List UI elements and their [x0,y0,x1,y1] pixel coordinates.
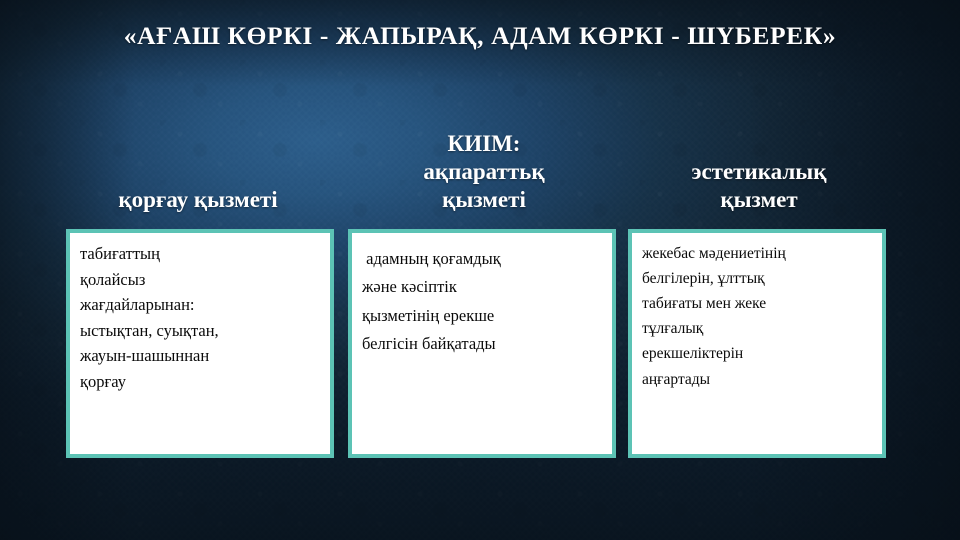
column-header-2: КИІМ: ақпараттьқ қызметі [348,130,620,222]
slide-title-line-2: ШҮБЕРЕК» [687,21,836,50]
column-header-2-line-2: ақпараттьқ [348,158,620,186]
column-header-1: қорғау қызметі [62,186,334,222]
column-header-3-line-2: қызмет [632,186,886,214]
column-header-2-line-3: қызметі [348,186,620,214]
slide-title-line-1: «АҒАШ КӨРКІ - ЖАПЫРАҚ, АДАМ КӨРКІ - [124,21,681,50]
column-header-3-line-1: эстетикалық [632,158,886,186]
content-box-1-line-3: жағдайларынан: [80,292,322,318]
content-box-2-line-2: және кәсіптік [362,273,604,301]
content-box-1-line-6: қорғау [80,369,322,395]
content-box-2-line-4: белгісін байқатады [362,330,604,358]
content-box-3-line-3: табиғаты мен жеке [642,291,874,316]
presentation-slide: «АҒАШ КӨРКІ - ЖАПЫРАҚ, АДАМ КӨРКІ - ШҮБЕ… [0,0,960,540]
content-box-3-line-4: тұлғалық [642,316,874,341]
content-box-3-line-1: жекебас мәдениетінің [642,241,874,266]
content-box-1-line-1: табиғаттың [80,241,322,267]
content-box-2-line-1: адамның қоғамдық [362,245,604,273]
content-box-3-line-6: аңғартады [642,367,874,392]
content-box-3: жекебас мәдениетінің белгілерін, ұлттық … [628,229,886,458]
column-header-1-line-1: қорғау қызметі [62,186,334,214]
content-box-1: табиғаттың қолайсыз жағдайларынан: ыстық… [66,229,334,458]
column-header-3: эстетикалық қызмет [632,158,886,222]
content-box-1-line-2: қолайсыз [80,267,322,293]
content-box-1-line-4: ыстықтан, суықтан, [80,318,322,344]
content-box-2: адамның қоғамдық және кәсіптік қызметіні… [348,229,616,458]
column-header-2-line-1: КИІМ: [348,130,620,158]
content-box-1-line-5: жауын-шашыннан [80,343,322,369]
slide-title: «АҒАШ КӨРКІ - ЖАПЫРАҚ, АДАМ КӨРКІ - ШҮБЕ… [112,20,848,53]
content-box-2-line-3: қызметінің ерекше [362,302,604,330]
content-boxes: табиғаттың қолайсыз жағдайларынан: ыстық… [66,229,886,458]
content-box-3-line-2: белгілерін, ұлттық [642,266,874,291]
column-headers: қорғау қызметі КИІМ: ақпараттьқ қызметі … [62,112,886,222]
content-box-3-line-5: ерекшеліктерін [642,341,874,366]
